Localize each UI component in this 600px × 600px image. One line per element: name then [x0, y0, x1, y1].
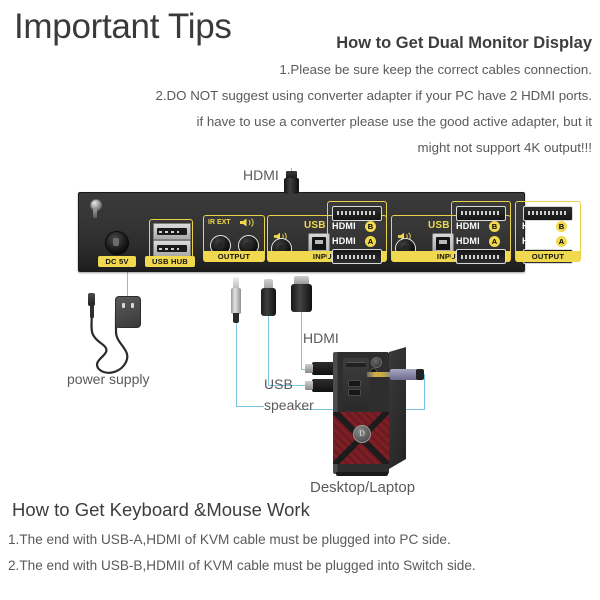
pc-audio-plug-barrel	[390, 369, 418, 380]
dual-monitor-line-2: 2.DO NOT suggest using converter adapter…	[155, 88, 592, 104]
output-left-label: OUTPUT	[204, 251, 264, 262]
keyboard-mouse-line-1: 1.The end with USB-A,HDMI of KVM cable m…	[8, 531, 451, 549]
input1-hdmi-b-badge: B	[489, 221, 500, 232]
input1-usb-title: USB	[428, 220, 450, 231]
guide-line-power	[127, 270, 128, 298]
pc-brand-badge: D	[353, 425, 371, 443]
keyboard-mouse-line-2: 2.The end with USB-B,HDMII of KVM cable …	[8, 557, 476, 575]
usb-hub-group[interactable]	[149, 219, 193, 259]
audio-plug-body	[231, 288, 241, 314]
pc-side-panel	[389, 347, 406, 469]
output-hdmi-a-text: HDMI	[522, 236, 546, 247]
pc-power-button	[371, 357, 382, 368]
hdmi-plug-body	[291, 284, 312, 312]
input1-hdmi-b-text: HDMI	[456, 221, 480, 232]
output-hdmi-b-text: HDMI	[522, 221, 546, 232]
input2-hdmi-group[interactable]: HDMI B HDMI A	[327, 201, 387, 261]
hdmi-cable-top-body	[284, 178, 299, 194]
input2-hdmi-b-text: HDMI	[332, 221, 356, 232]
power-supply-label: power supply	[67, 371, 150, 388]
dual-monitor-line-1: 1.Please be sure keep the correct cables…	[279, 62, 592, 78]
usb-hub-label: USB HUB	[145, 256, 195, 267]
guide-line-speaker-across	[236, 406, 264, 407]
power-adapter-brick	[115, 296, 141, 328]
speaker-label: speaker	[264, 397, 314, 414]
usb-a-port-bottom[interactable]	[153, 240, 191, 257]
dual-monitor-heading: How to Get Dual Monitor Display	[336, 33, 592, 53]
pc-optical-drive	[346, 362, 366, 367]
input1-hdmi-b-port[interactable]	[456, 206, 506, 221]
dual-monitor-line-3: if have to use a converter please use th…	[197, 114, 592, 130]
input1-hdmi-a-badge: A	[489, 236, 500, 247]
page-title: Important Tips	[14, 6, 232, 48]
dc-power-jack-pin	[113, 238, 119, 246]
input2-hdmi-a-port[interactable]	[332, 249, 382, 264]
hdmi-pc-label: HDMI	[303, 330, 339, 347]
kvm-switch-panel[interactable]: DC 5V USB HUB IR EXT OUTPUT USB INPUT2 H…	[78, 192, 525, 272]
input2-hdmi-b-badge: B	[365, 221, 376, 232]
power-plug-body	[90, 304, 94, 318]
pc-audio-plug-shaft	[367, 372, 391, 377]
desktop-laptop-label: Desktop/Laptop	[310, 479, 415, 496]
usb-b-plug-body	[261, 288, 276, 316]
antenna-stem-icon	[93, 209, 97, 218]
hdmi-top-label: HDMI	[243, 167, 279, 184]
pc-base	[336, 472, 388, 476]
guide-line-pcaudio-down	[424, 374, 425, 410]
input1-hdmi-a-text: HDMI	[456, 236, 480, 247]
pc-audio-plug-end	[416, 369, 424, 380]
pc-usb-port-2	[348, 389, 361, 396]
dc-power-label: DC 5V	[98, 256, 136, 267]
guide-line-hdmi-down	[301, 312, 302, 370]
output-left-group[interactable]: IR EXT OUTPUT	[203, 215, 265, 262]
input2-hdmi-a-text: HDMI	[332, 236, 356, 247]
output-hdmi-b-port[interactable]	[523, 206, 573, 221]
input2-hdmi-a-badge: A	[365, 236, 376, 247]
input1-hdmi-a-port[interactable]	[456, 249, 506, 264]
audio-icon	[239, 218, 255, 227]
output-hdmi-a-badge: A	[556, 236, 567, 247]
usb-a-port-top[interactable]	[153, 223, 191, 240]
output-right-label: OUTPUT	[516, 251, 580, 262]
input1-hdmi-group[interactable]: HDMI B HDMI A	[451, 201, 511, 261]
audio-plug-neck	[233, 313, 239, 323]
input2-hdmi-b-port[interactable]	[332, 206, 382, 221]
output-hdmi-b-badge: B	[556, 221, 567, 232]
input2-usb-title: USB	[304, 220, 326, 231]
guide-line-speaker-down	[236, 322, 237, 406]
dual-monitor-line-4: might not support 4K output!!!	[418, 140, 592, 156]
output-right-group[interactable]: HDMI B HDMI A OUTPUT	[515, 201, 581, 262]
ir-ext-title: IR EXT	[208, 219, 231, 227]
pc-usb-port-1	[348, 380, 361, 387]
keyboard-mouse-heading: How to Get Keyboard &Mouse Work	[12, 498, 310, 522]
usb-label: USB	[264, 376, 293, 393]
